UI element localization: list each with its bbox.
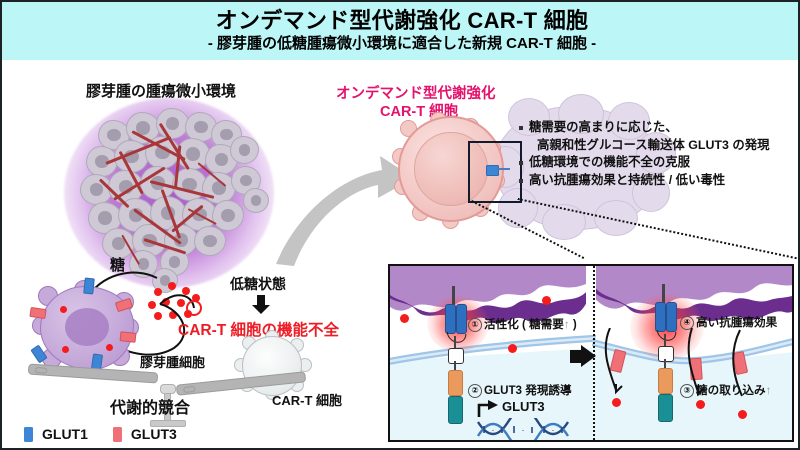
dysfunction-label: CAR-T 細胞の機能不全 [178, 318, 339, 340]
figure-header: オンデマンド型代謝強化 CAR-T 細胞 - 膠芽腫の低糖腫瘍微小環境に適合した… [2, 2, 800, 60]
glut3-chip [29, 307, 46, 319]
step1-tail: ) [570, 318, 577, 331]
dna-helix-icon [476, 418, 572, 440]
step-arrow-icon [581, 345, 596, 367]
step1-number: ① [468, 318, 482, 332]
bullet-2: 低糖環境での機能不全の克服 [518, 154, 794, 172]
step2-text: GLUT3 発現誘導 [484, 384, 572, 397]
legend: GLUT1 GLUT3 [24, 426, 177, 442]
gbm-cell-label: 膠芽腫細胞 [140, 352, 205, 371]
glucose-dot [542, 296, 551, 305]
benefit-bullet-list: 糖需要の高まりに応じた、 高親和性グルコース輸送体 GLUT3 の発現 低糖環境… [518, 119, 794, 189]
low-glucose-label: 低糖状態 [230, 274, 286, 294]
glut1-legend-label: GLUT1 [42, 426, 88, 442]
promoter-label: GLUT3 [502, 399, 545, 414]
glut3-chip [120, 331, 137, 343]
tumor-surface-left [388, 264, 586, 350]
glut3-callout-chip [486, 165, 499, 176]
figure-title: オンデマンド型代謝強化 CAR-T 細胞 [216, 9, 589, 32]
figure-subtitle: - 膠芽腫の低糖腫瘍微小環境に適合した新規 CAR-T 細胞 - [208, 35, 596, 53]
glucose-dot [696, 400, 705, 409]
glut3-swatch [113, 427, 122, 442]
step2-number: ② [468, 384, 482, 398]
step2-label: ②GLUT3 発現誘導 [468, 382, 572, 398]
glucose-influx-arrows [596, 328, 794, 438]
glut1-swatch [24, 427, 33, 442]
glucose-dot [400, 314, 409, 323]
down-arrow-icon [250, 294, 272, 316]
bullet-1-line1: 糖需要の高まりに応じた、 [518, 119, 794, 137]
figure-root: オンデマンド型代謝強化 CAR-T 細胞 - 膠芽腫の低糖腫瘍微小環境に適合した… [0, 0, 800, 450]
bullet-1-line2: 高親和性グルコース輸送体 GLUT3 の発現 [518, 137, 794, 155]
glut3-legend-label: GLUT3 [131, 426, 177, 442]
step1-text: 活性化 ( 糖需要 [484, 318, 564, 331]
metabolic-competition-label: 代謝的競合 [110, 394, 190, 418]
cart-cell-label: CAR-T 細胞 [272, 390, 342, 409]
mechanism-inset-panel: ①活性化 ( 糖需要↑ ) ②GLUT3 発現誘導 GLUT3 [388, 264, 794, 442]
glucose-dot [738, 410, 747, 419]
bullet-3: 高い抗腫瘍効果と持続性 / 低い毒性 [518, 172, 794, 190]
glucose-dot [508, 344, 517, 353]
glucose-dot [612, 398, 621, 407]
glut1-chip [83, 278, 95, 295]
promoter-arrow-icon [476, 400, 500, 418]
step1-label: ①活性化 ( 糖需要↑ ) [468, 316, 577, 332]
callout-connector [496, 168, 510, 170]
